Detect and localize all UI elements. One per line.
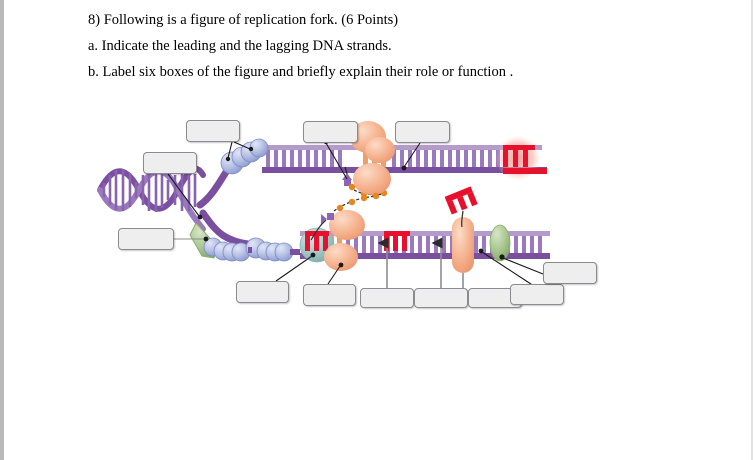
label-box-bottom-polymerase[interactable] bbox=[303, 284, 356, 306]
rna-primer-leading bbox=[496, 136, 547, 180]
question-line-3: b. Label six boxes of the figure and bri… bbox=[88, 64, 513, 81]
dna-polymerase-lagging-2 bbox=[452, 217, 474, 273]
label-box-left-lower[interactable] bbox=[118, 228, 174, 250]
page-canvas: 8) Following is a figure of replication … bbox=[0, 0, 753, 460]
parental-dna-helix bbox=[100, 168, 203, 229]
question-line-2: a. Indicate the leading and the lagging … bbox=[88, 38, 392, 55]
free-rna-primer-icon bbox=[445, 186, 478, 214]
rna-primer-okazaki-mid bbox=[384, 231, 410, 251]
label-box-bottom-right-upper[interactable] bbox=[543, 262, 597, 284]
label-box-top-polymerase[interactable] bbox=[395, 121, 450, 143]
label-box-top-primase[interactable] bbox=[303, 121, 358, 143]
label-box-top-helicase[interactable] bbox=[186, 120, 240, 142]
label-box-left-upper[interactable] bbox=[143, 152, 197, 174]
ssb-protein-beads bbox=[204, 238, 300, 261]
label-box-bottom-okazaki-1[interactable] bbox=[360, 288, 414, 308]
question-line-1: 8) Following is a figure of replication … bbox=[88, 12, 398, 29]
label-box-bottom-okazaki-2[interactable] bbox=[414, 288, 468, 308]
label-box-bottom-clamp[interactable] bbox=[236, 281, 289, 303]
label-box-bottom-right-lower[interactable] bbox=[510, 284, 564, 305]
